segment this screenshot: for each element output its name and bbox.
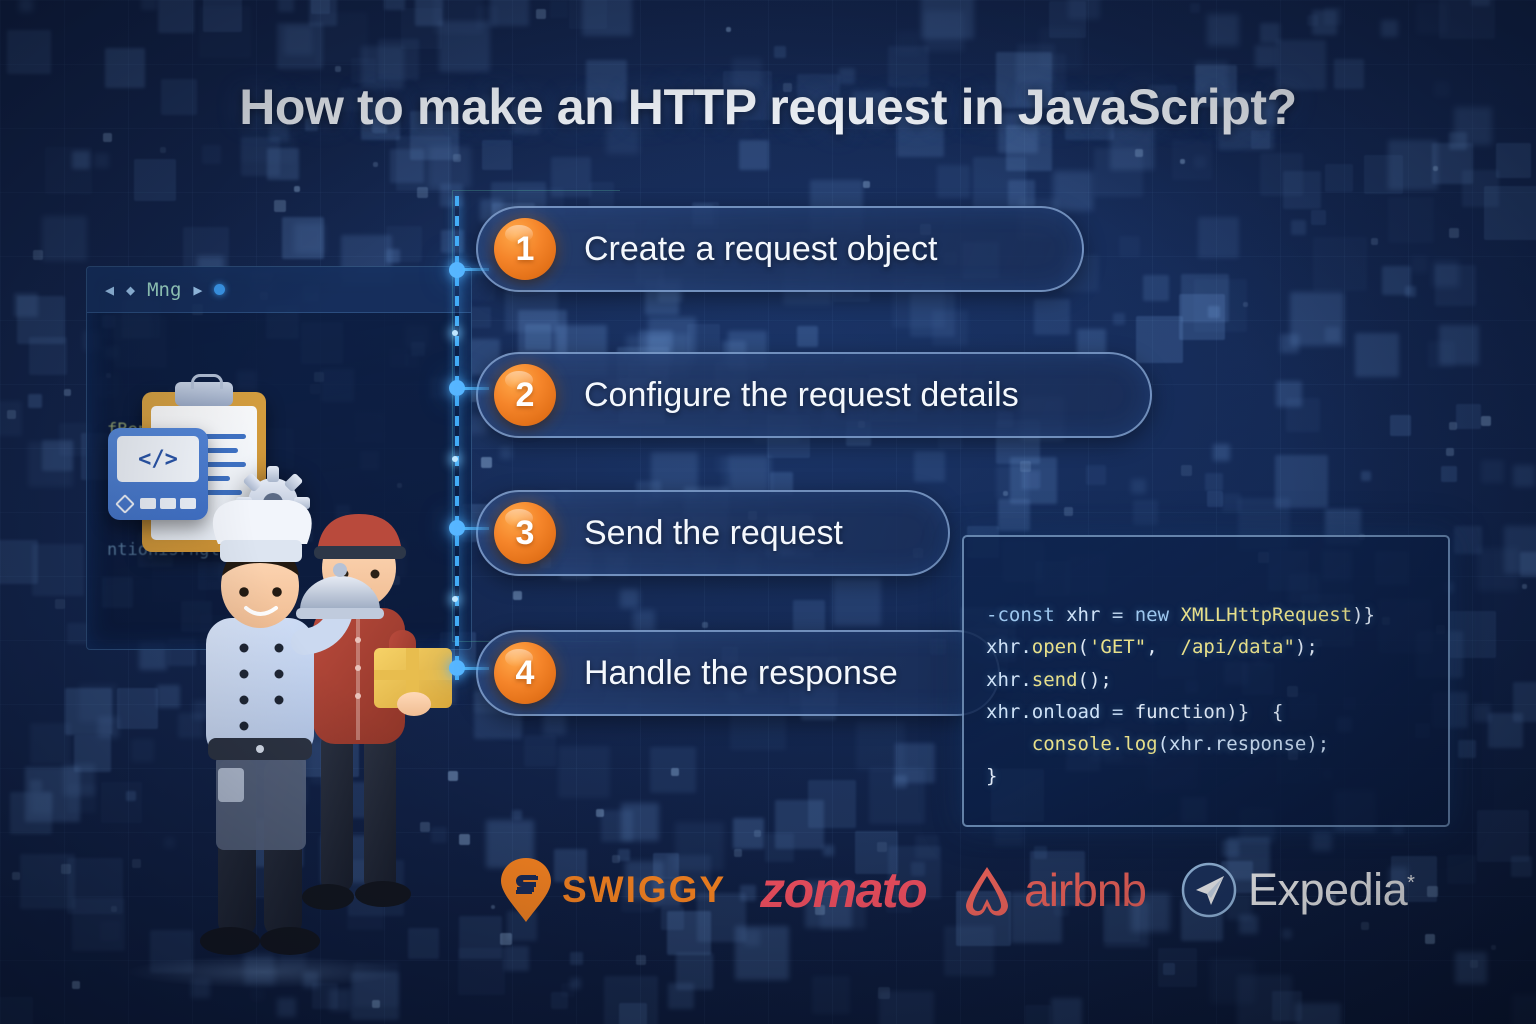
- logo-swiggy: SWIGGY: [500, 857, 726, 923]
- rail-spur-2: [463, 387, 489, 390]
- step-number-badge: 4: [494, 642, 556, 704]
- step-item-2[interactable]: 2 Configure the request details: [476, 352, 1152, 438]
- step-number-badge: 3: [494, 502, 556, 564]
- code-glyph: </>: [117, 436, 199, 482]
- rail-spur-3: [463, 527, 489, 530]
- status-dot-icon: [214, 284, 225, 295]
- code-snippet-panel: -const xhr = new XMLLHttpRequest)} xhr.o…: [962, 535, 1450, 827]
- step-item-3[interactable]: 3 Send the request: [476, 490, 950, 576]
- code-line-4: xhr.onload = function)} {: [986, 696, 1448, 728]
- delivery-person-character: [302, 514, 452, 910]
- expedia-text: Expedia: [1248, 864, 1407, 915]
- diamond-icon: ◆: [126, 281, 135, 299]
- expedia-star-icon: *: [1407, 872, 1414, 894]
- rail-spur-1: [463, 268, 489, 271]
- airbnb-wordmark: airbnb: [1024, 863, 1146, 917]
- expedia-wordmark: Expedia*: [1248, 864, 1414, 916]
- chevron-left-icon[interactable]: ◀: [105, 281, 114, 299]
- step-label: Send the request: [584, 514, 843, 553]
- editor-tab-label[interactable]: Mng: [147, 279, 181, 301]
- swiggy-wordmark: SWIGGY: [562, 869, 726, 911]
- airbnb-belo-icon: [960, 862, 1014, 918]
- zomato-wordmark: zomato: [760, 861, 926, 919]
- logo-zomato: zomato: [760, 861, 926, 919]
- step-number-badge: 2: [494, 364, 556, 426]
- editor-toolbar: ◀ ◆ Mng ▶: [87, 267, 471, 313]
- code-line-1: -const xhr = new XMLLHttpRequest)}: [986, 599, 1448, 631]
- floor-shadow: [128, 956, 398, 988]
- step-label: Create a request object: [584, 230, 937, 269]
- rail-glow-dot: [452, 456, 458, 462]
- character-illustration: [178, 500, 468, 980]
- brand-logo-row: SWIGGY zomato airbnb Expedia*: [500, 848, 1490, 932]
- step-number-badge: 1: [494, 218, 556, 280]
- rail-glow-dot: [452, 596, 458, 602]
- code-line-5: console.log(xhr.response);: [986, 728, 1448, 760]
- logo-airbnb: airbnb: [960, 862, 1146, 918]
- logo-expedia: Expedia*: [1180, 861, 1414, 919]
- infographic-canvas: How to make an HTTP request in JavaScrip…: [0, 0, 1536, 1024]
- step-label: Configure the request details: [584, 376, 1019, 415]
- step-item-4[interactable]: 4 Handle the response: [476, 630, 1000, 716]
- rail-spur-4: [463, 667, 489, 670]
- step-label: Handle the response: [584, 654, 898, 693]
- rail-glow-dot: [452, 330, 458, 336]
- code-line-3: xhr.send();: [986, 664, 1448, 696]
- page-title: How to make an HTTP request in JavaScrip…: [0, 78, 1536, 136]
- code-line-6: }: [986, 760, 1448, 792]
- step-item-1[interactable]: 1 Create a request object: [476, 206, 1084, 292]
- swiggy-pin-icon: [500, 857, 552, 923]
- chevron-right-icon[interactable]: ▶: [193, 281, 202, 299]
- code-line-2: xhr.open('GET", /api/data");: [986, 631, 1448, 663]
- expedia-plane-icon: [1180, 861, 1238, 919]
